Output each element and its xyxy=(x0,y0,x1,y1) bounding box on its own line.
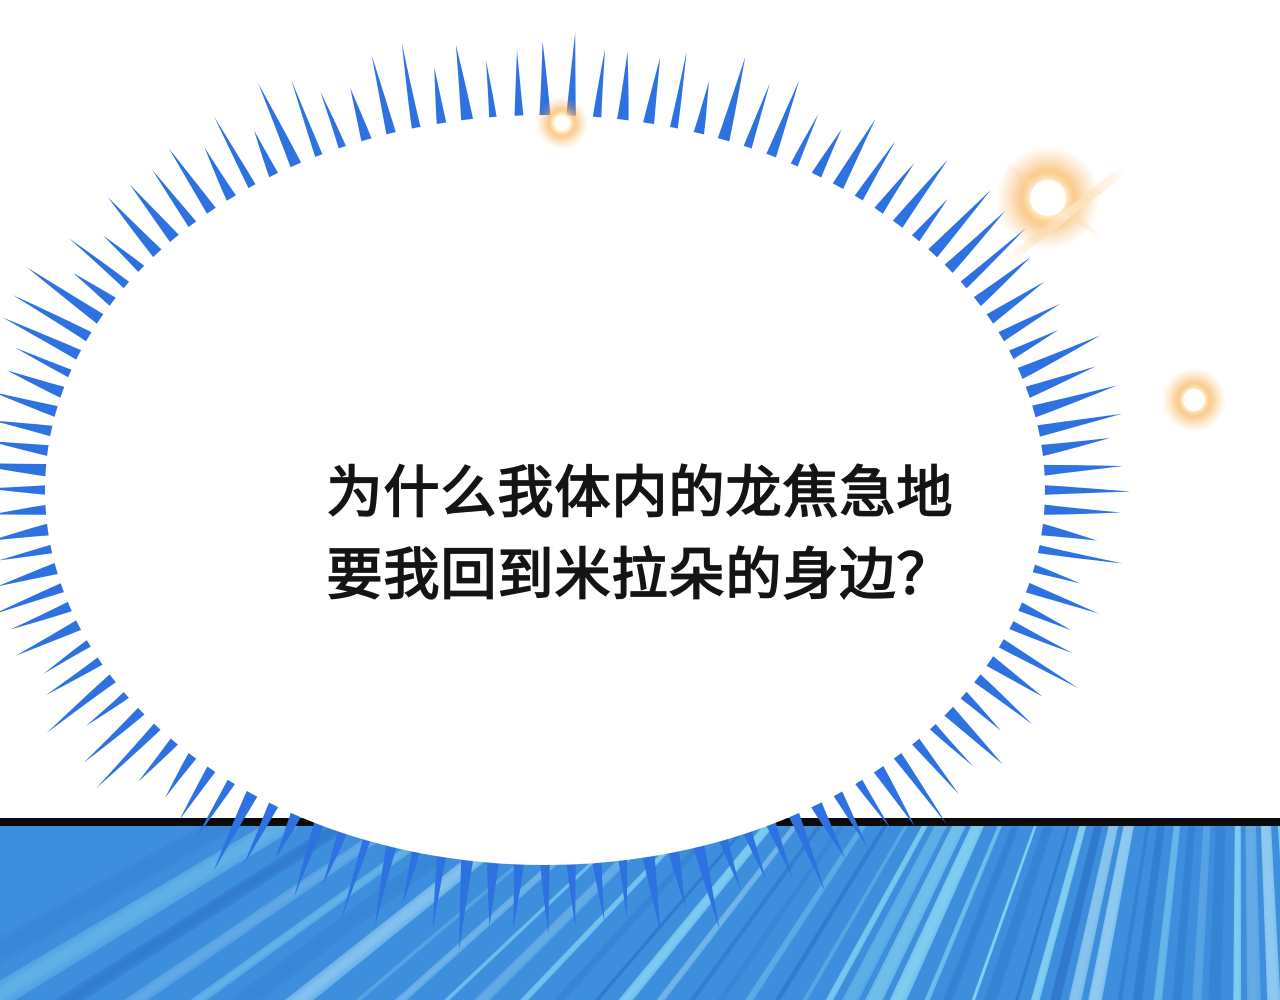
orb-right xyxy=(1162,368,1226,432)
orb-top xyxy=(536,97,588,149)
comic-panel: 为什么我体内的龙焦急地 要我回到米拉朵的身边？ xyxy=(0,0,1280,1000)
orb-upper-right xyxy=(996,146,1129,264)
light-orbs xyxy=(0,0,1280,1000)
